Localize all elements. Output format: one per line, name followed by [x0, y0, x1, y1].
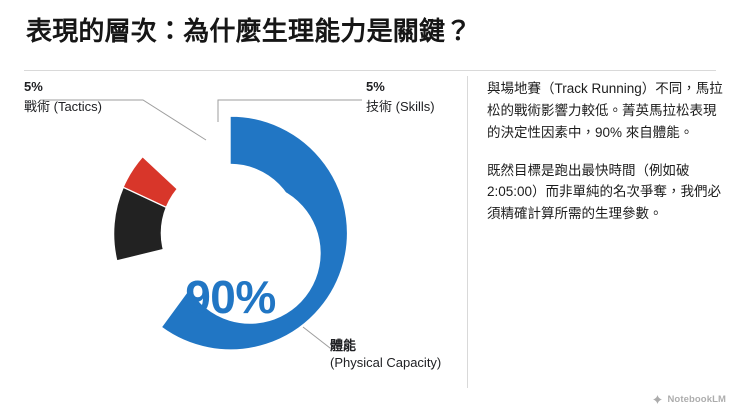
column-divider [467, 76, 468, 388]
callout-physical-label-en: (Physical Capacity) [330, 355, 441, 372]
slide-root: 表現的層次：為什麼生理能力是關鍵？ 90% 5% 戰術 (Tactics) 5 [0, 0, 740, 413]
body-paragraph-2: 既然目標是跑出最快時間（例如破 2:05:00）而非單純的名次爭奪，我們必須精確… [487, 160, 723, 226]
notebooklm-watermark: NotebookLM [652, 394, 726, 405]
callout-physical: 體能 (Physical Capacity) [330, 338, 441, 372]
donut-center-value: 90% [113, 274, 348, 320]
callout-physical-label-zh: 體能 [330, 338, 441, 355]
body-paragraph-1: 與場地賽（Track Running）不同，馬拉松的戰術影響力較低。菁英馬拉松表… [487, 78, 723, 144]
callout-skills: 5% 技術 (Skills) [366, 78, 435, 115]
callout-tactics: 5% 戰術 (Tactics) [24, 78, 102, 115]
page-title: 表現的層次：為什麼生理能力是關鍵？ [26, 16, 716, 47]
notebooklm-watermark-label: NotebookLM [667, 394, 726, 405]
text-column: 與場地賽（Track Running）不同，馬拉松的戰術影響力較低。菁英馬拉松表… [487, 78, 723, 225]
title-divider [24, 70, 716, 71]
callout-skills-label: 技術 (Skills) [366, 98, 435, 116]
callout-tactics-value: 5% [24, 78, 102, 96]
notebooklm-icon [652, 394, 663, 405]
callout-tactics-label: 戰術 (Tactics) [24, 98, 102, 116]
callout-skills-value: 5% [366, 78, 435, 96]
